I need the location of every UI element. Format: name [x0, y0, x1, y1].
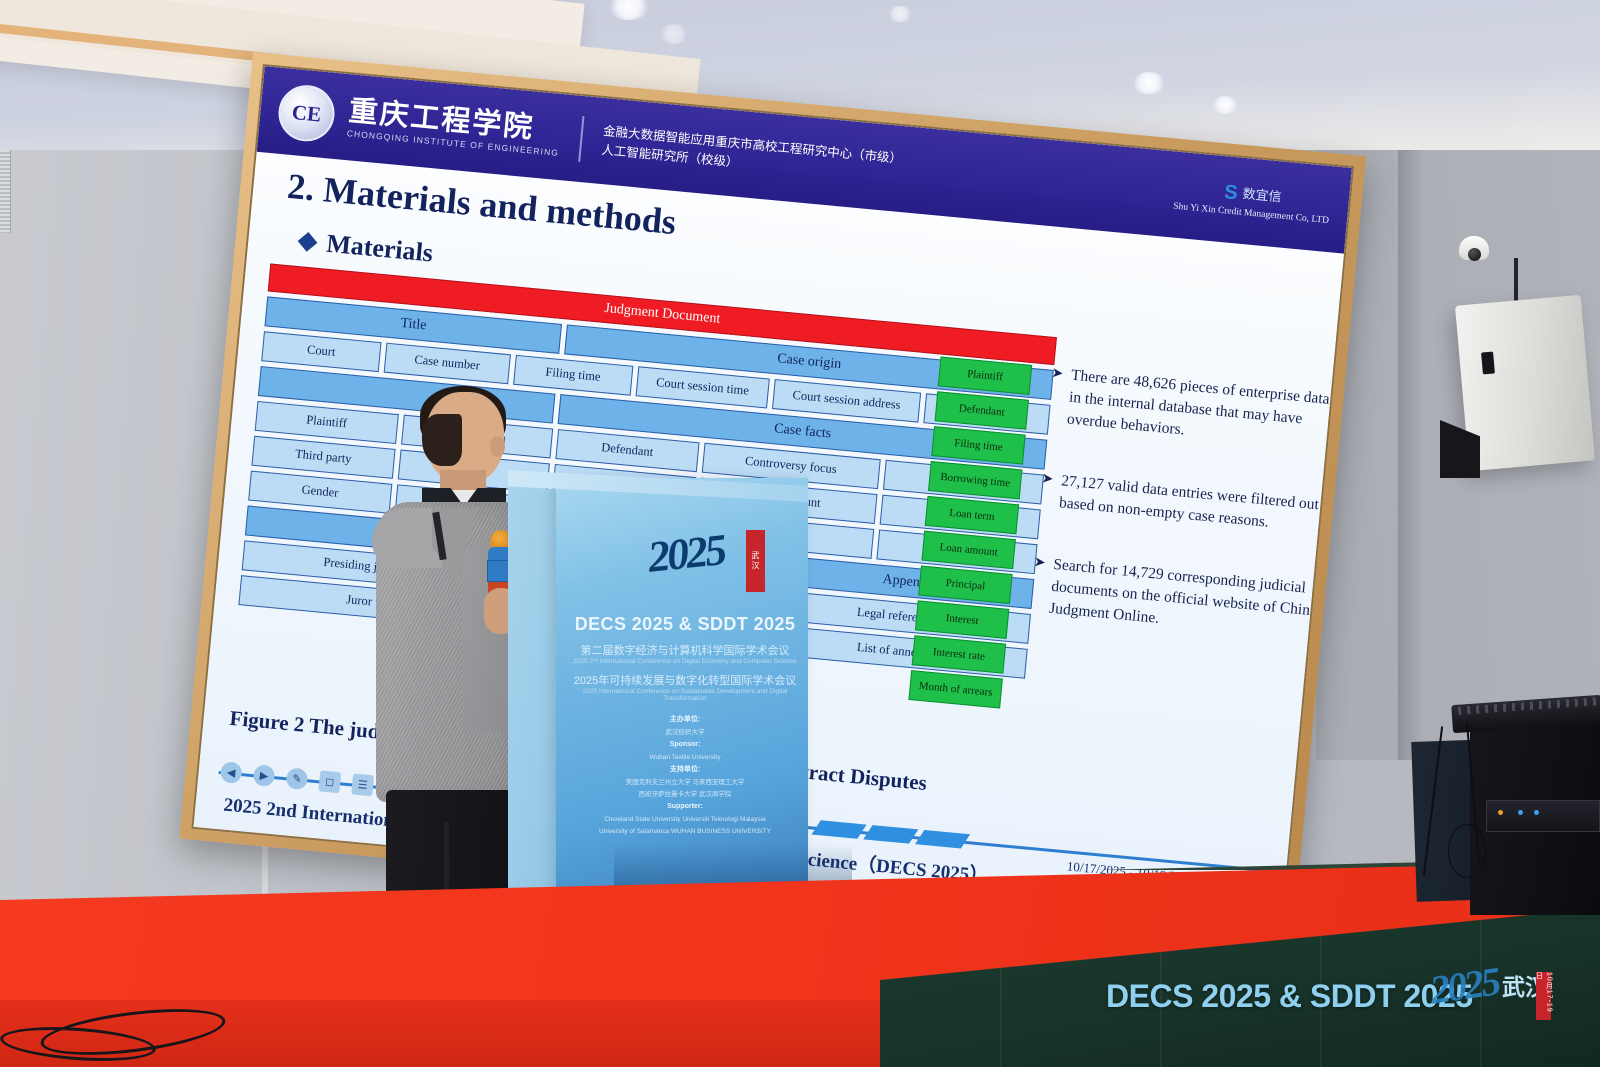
presenter-shoulder — [372, 508, 442, 568]
header-divider — [578, 116, 584, 162]
sponsor-logo-icon: S — [1223, 181, 1238, 205]
lectern-conference-title: DECS 2025 & SDDT 2025 — [566, 614, 804, 635]
conference-room-photo: CE 重庆工程学院 CHONGQING INSTITUTE OF ENGINEE… — [0, 0, 1600, 1067]
presenter — [370, 392, 530, 962]
lectern-en-line-2: 2025 International Conference on Sustain… — [566, 688, 804, 702]
extracted-field: Loan term — [925, 496, 1019, 534]
bullet-item: ➤ 27,127 valid data entries were filtere… — [1039, 468, 1330, 539]
diagram-node-case-number: Case number — [383, 343, 510, 385]
sponsor-label: Sponsor: — [670, 741, 701, 748]
bullet-text: 27,127 valid data entries were filtered … — [1058, 470, 1329, 539]
footer-accent-icon — [811, 820, 866, 838]
stage-skirt-year-mark: 2025 — [1427, 957, 1501, 1013]
play-icon[interactable]: ▶ — [253, 764, 276, 787]
extracted-field: Loan amount — [921, 531, 1015, 569]
downlight-icon — [888, 6, 912, 22]
sponsor-logo-row: S 数宜信 — [1223, 181, 1282, 209]
extracted-field: Principal — [918, 566, 1012, 604]
diagram-node-filing-time: Filing time — [513, 355, 633, 396]
speaker-hanger-rod — [1514, 258, 1518, 304]
cohost-line-1: 美国克利夫兰州立大学 马来西亚理工大学 — [566, 777, 804, 789]
lectern-credits: 主办单位: 武汉纺织大学 Sponsor: Wuhan Textile Univ… — [566, 714, 804, 838]
cohost-label: 支持单位: — [670, 766, 700, 773]
downlight-icon — [660, 24, 688, 44]
rack-led-icon — [1498, 810, 1503, 815]
extracted-field: Interest rate — [912, 635, 1006, 673]
supporter-line-1: Cleveland State University Universiti Te… — [566, 814, 804, 826]
slide-bullet-list: ➤ There are 48,626 pieces of enterprise … — [1025, 363, 1339, 685]
host-label: 主办单位: — [670, 716, 700, 723]
prev-icon[interactable]: ◀ — [220, 761, 243, 784]
lectern-cn-line-1: 第二届数字经济与计算机科学国际学术会议 — [566, 642, 804, 658]
bullet-item: ➤ Search for 14,729 corresponding judici… — [1029, 552, 1322, 645]
rack-led-icon — [1534, 810, 1539, 815]
sponsor-name-cn: 数宜信 — [1242, 187, 1282, 206]
presenter-hair-side — [422, 414, 462, 466]
sponsor-name: Wuhan Textile University — [566, 752, 804, 764]
rack-led-icon — [1518, 810, 1523, 815]
presenter-ear — [490, 436, 505, 457]
downlight-icon — [1132, 72, 1166, 94]
pen-icon[interactable]: ✎ — [285, 767, 308, 790]
lectern-en-line-1: 2025 2ⁿᵈ International Conference on Dig… — [566, 658, 804, 665]
host-name: 武汉纺织大学 — [566, 727, 804, 739]
speaker-port-icon — [1481, 352, 1495, 375]
extracted-field: Filing time — [931, 426, 1025, 464]
coiled-cable — [1448, 824, 1486, 878]
supporter-line-2: University of Salamanca WUHAN BUSINESS U… — [566, 826, 804, 838]
extracted-field: Month of arrears — [908, 670, 1002, 708]
lectern-year-mark: 2025 — [646, 524, 727, 583]
bullet-item: ➤ There are 48,626 pieces of enterprise … — [1046, 363, 1339, 456]
bullet-text: Search for 14,729 corresponding judicial… — [1048, 554, 1321, 645]
rack-panel — [1486, 800, 1600, 832]
university-name-block: 重庆工程学院 CHONGQING INSTITUTE OF ENGINEERIN… — [346, 96, 562, 158]
lectern-cn-line-2: 2025年可持续发展与数字化转型国际学术会议 — [566, 672, 804, 688]
stage-skirt-date-seal: 10月17-19日 — [1536, 972, 1551, 1020]
extracted-field: Interest — [915, 600, 1009, 638]
wall-corner-shadow — [1398, 120, 1424, 760]
diamond-bullet-icon — [298, 232, 318, 252]
downlight-icon — [1212, 96, 1238, 114]
footer-accent-icon — [863, 825, 918, 843]
lectern-city-seal: 武汉 — [746, 530, 765, 592]
diagram-node-court: Court — [261, 331, 381, 372]
university-logo-icon: CE — [276, 83, 337, 144]
slide-subtitle-text: Materials — [325, 229, 434, 269]
research-center-block: 金融大数据智能应用重庆市高校工程研究中心（市级） 人工智能研究所（校级） — [601, 122, 903, 187]
camera-lens-icon — [1468, 248, 1481, 261]
supporter-label: Supporter: — [667, 803, 703, 810]
screenshot-icon[interactable]: ◻ — [318, 770, 341, 793]
cohost-line-2: 西班牙萨拉曼卡大学 武汉商学院 — [566, 789, 804, 801]
sponsor-block: S 数宜信 Shu Yi Xin Credit Management Co, L… — [1173, 177, 1332, 227]
stage-skirt-brand: DECS 2025 & SDDT 2025 — [1106, 978, 1473, 1015]
extracted-field: Borrowing time — [928, 461, 1022, 499]
slide-subtitle: Materials — [299, 226, 434, 268]
extracted-field: Defendant — [935, 391, 1029, 429]
footer-accent-icon — [915, 830, 970, 848]
bullet-text: There are 48,626 pieces of enterprise da… — [1066, 365, 1339, 456]
